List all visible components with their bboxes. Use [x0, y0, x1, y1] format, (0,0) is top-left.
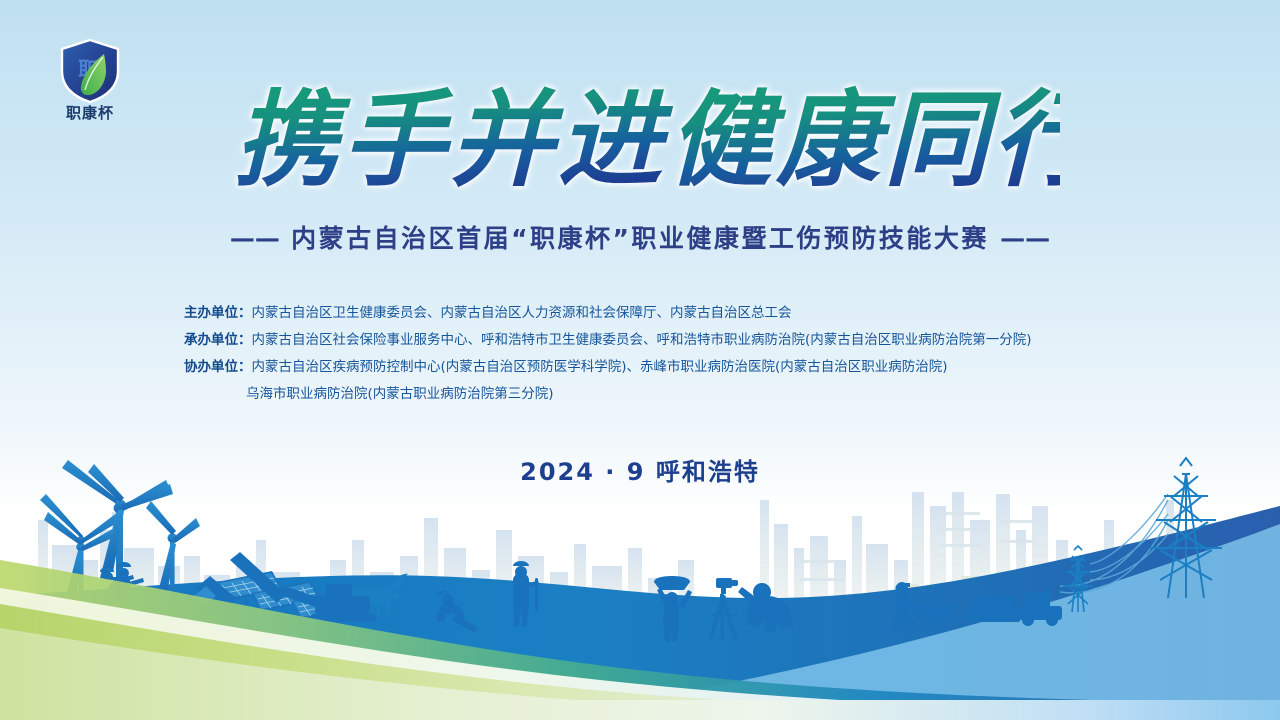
organizer-row: 承办单位：内蒙古自治区社会保险事业服务中心、呼和浩特市卫生健康委员会、呼和浩特市… [184, 327, 1184, 354]
title-left: 携手并进 [234, 78, 674, 201]
organizer-label: 承办单位： [184, 332, 252, 348]
main-title-art: 携手并进 健康同行 [220, 64, 1060, 214]
organizer-value-continued: 乌海市职业病防治院(内蒙古职业病防治院第三分院) [184, 381, 1184, 408]
subtitle-dash-right: —— [1000, 224, 1050, 253]
organizer-row: 主办单位：内蒙古自治区卫生健康委员会、内蒙古自治区人力资源和社会保障厅、内蒙古自… [184, 300, 1184, 327]
organizer-block: 主办单位：内蒙古自治区卫生健康委员会、内蒙古自治区人力资源和社会保障厅、内蒙古自… [184, 300, 1184, 408]
organizer-value: 内蒙古自治区社会保险事业服务中心、呼和浩特市卫生健康委员会、呼和浩特市职业病防治… [252, 332, 1032, 348]
subtitle-text: 内蒙古自治区首届“职康杯”职业健康暨工伤预防技能大赛 [291, 224, 989, 253]
organizer-label: 主办单位： [184, 305, 252, 321]
date-location: 2024 · 9 呼和浩特 [0, 452, 1280, 487]
organizer-value: 内蒙古自治区卫生健康委员会、内蒙古自治区人力资源和社会保障厅、内蒙古自治区总工会 [252, 305, 792, 321]
organizer-value: 内蒙古自治区疾病预防控制中心(内蒙古自治区预防医学科学院)、赤峰市职业病防治医院… [252, 359, 948, 375]
title-right: 健康同行 [668, 78, 1060, 201]
organizer-row: 协办单位：内蒙古自治区疾病预防控制中心(内蒙古自治区预防医学科学院)、赤峰市职业… [184, 354, 1184, 408]
subtitle-line: —— 内蒙古自治区首届“职康杯”职业健康暨工伤预防技能大赛 —— [0, 219, 1280, 255]
poster-canvas: 职 职康杯 携手并进 健康同行 [0, 0, 1280, 720]
subtitle-dash-left: —— [230, 224, 280, 253]
organizer-label: 协办单位： [184, 359, 252, 375]
main-title: 携手并进 健康同行 [0, 64, 1280, 219]
